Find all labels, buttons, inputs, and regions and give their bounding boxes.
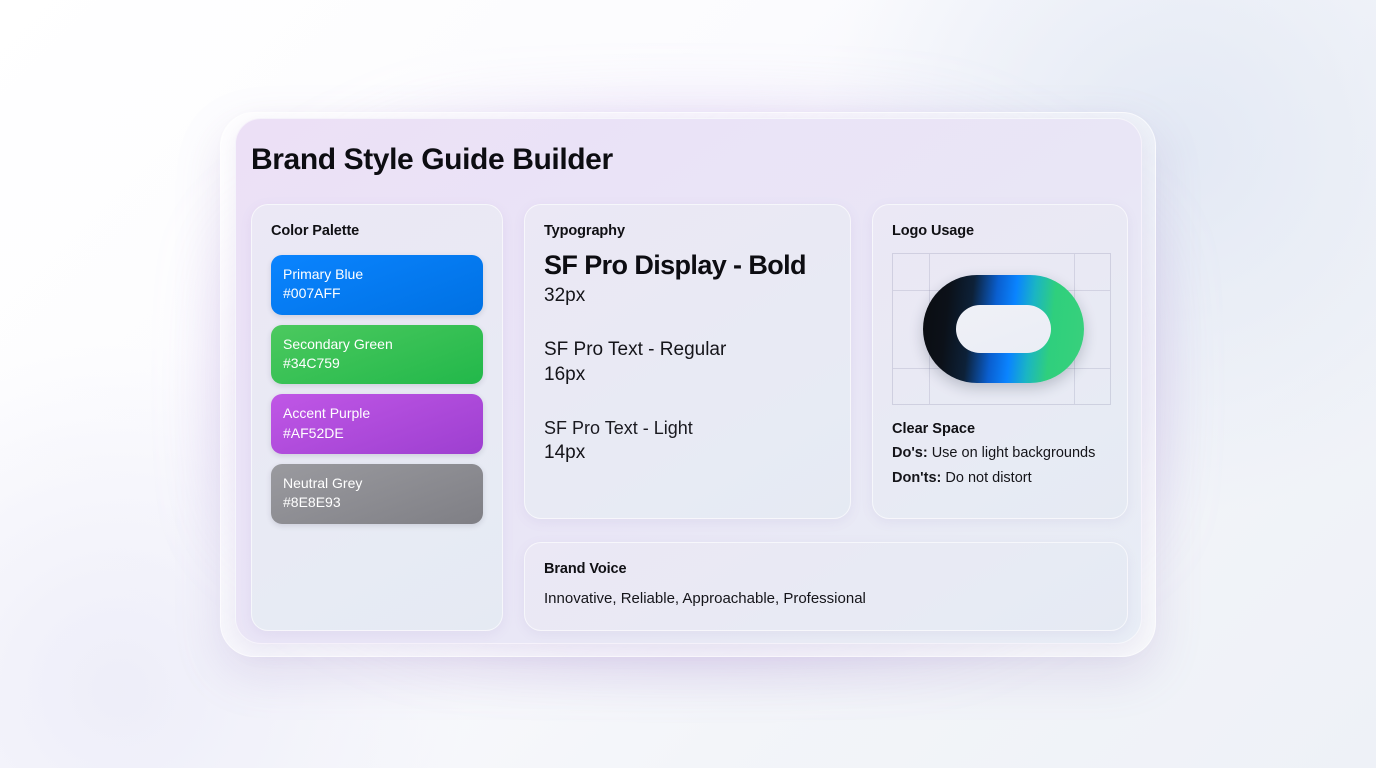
swatch-name: Secondary Green <box>283 335 471 354</box>
page-title: Brand Style Guide Builder <box>251 143 613 177</box>
swatch-primary-blue[interactable]: Primary Blue #007AFF <box>271 255 483 315</box>
color-palette-title: Color Palette <box>271 223 483 239</box>
type-sample-display-bold: SF Pro Display - Bold 32px <box>544 249 831 308</box>
app-card: Brand Style Guide Builder Color Palette … <box>235 118 1142 644</box>
swatch-hex: #8E8E93 <box>283 493 471 512</box>
type-sample-name: SF Pro Display - Bold <box>544 249 831 283</box>
type-sample-name: SF Pro Text - Light <box>544 417 831 440</box>
swatch-secondary-green[interactable]: Secondary Green #34C759 <box>271 325 483 385</box>
brand-voice-title: Brand Voice <box>544 561 1108 577</box>
panel-color-palette: Color Palette Primary Blue #007AFF Secon… <box>251 204 503 631</box>
dos-line: Do's: Use on light backgrounds <box>892 444 1108 464</box>
swatch-accent-purple[interactable]: Accent Purple #AF52DE <box>271 394 483 454</box>
brand-voice-traits: Innovative, Reliable, Approachable, Prof… <box>544 590 1108 607</box>
swatch-hex: #007AFF <box>283 284 471 303</box>
swatch-list: Primary Blue #007AFF Secondary Green #34… <box>271 255 483 524</box>
panel-brand-voice: Brand Voice Innovative, Reliable, Approa… <box>524 542 1128 631</box>
type-sample-size: 14px <box>544 441 831 466</box>
swatch-name: Neutral Grey <box>283 474 471 493</box>
pill-ring-logo-icon <box>923 275 1084 383</box>
typography-title: Typography <box>544 223 831 239</box>
type-spacer <box>544 387 831 407</box>
dos-text: Use on light backgrounds <box>932 445 1096 461</box>
donts-text: Do not distort <box>945 470 1031 486</box>
type-sample-size: 32px <box>544 283 831 308</box>
swatch-name: Primary Blue <box>283 265 471 284</box>
swatch-hex: #34C759 <box>283 354 471 373</box>
type-sample-name: SF Pro Text - Regular <box>544 338 831 363</box>
swatch-hex: #AF52DE <box>283 424 471 443</box>
donts-line: Don'ts: Do not distort <box>892 469 1108 489</box>
dos-label: Do's: <box>892 445 928 461</box>
donts-label: Don'ts: <box>892 470 941 486</box>
swatch-neutral-grey[interactable]: Neutral Grey #8E8E93 <box>271 464 483 524</box>
swatch-name: Accent Purple <box>283 404 471 423</box>
type-sample-text-light: SF Pro Text - Light 14px <box>544 417 831 465</box>
panel-typography: Typography SF Pro Display - Bold 32px SF… <box>524 204 851 519</box>
type-sample-size: 16px <box>544 363 831 388</box>
panel-logo-usage: Logo Usage Clear Space Do's: Use on ligh… <box>872 204 1128 519</box>
clear-space-heading: Clear Space <box>892 421 1108 437</box>
type-spacer <box>544 308 831 328</box>
clear-space-grid <box>892 253 1111 405</box>
logo-notes: Clear Space Do's: Use on light backgroun… <box>892 421 1108 488</box>
type-sample-text-regular: SF Pro Text - Regular 16px <box>544 338 831 387</box>
logo-usage-title: Logo Usage <box>892 223 1108 239</box>
